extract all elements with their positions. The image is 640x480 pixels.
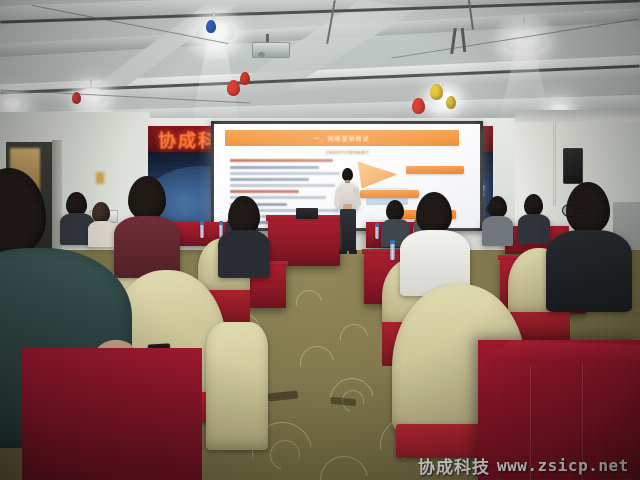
red-balloon: [412, 98, 425, 114]
slide-callout-1: [406, 166, 465, 174]
bottle-cap: [200, 221, 204, 225]
bottle-cap: [219, 221, 223, 225]
foreground-table-left: [22, 348, 202, 480]
banner-left-text: 协成科: [158, 127, 218, 153]
watermark-url: www.zsicp.net: [497, 456, 629, 475]
presenter-trousers: [340, 209, 356, 251]
yellow-balloon: [446, 96, 456, 109]
conference-room-photo: 协成科 与突益 下首创发布会 of potential conference 一…: [0, 0, 640, 480]
eyeglasses: [486, 205, 495, 213]
water-bottle: [375, 226, 379, 239]
red-balloon: [227, 80, 240, 96]
presenter: [335, 168, 361, 260]
slide-subtitle: 互联网时代的营销新模式: [273, 150, 422, 156]
blue-balloon: [206, 20, 216, 33]
stage-table: [268, 218, 340, 266]
watermark-chinese: 协成科技: [418, 453, 490, 478]
bottle-cap: [390, 240, 395, 244]
laptop: [296, 208, 318, 219]
water-bottle: [390, 244, 395, 260]
yellow-balloon: [430, 84, 443, 100]
red-balloon: [72, 92, 81, 104]
slide-header-bar: 一、网络营销概述: [225, 130, 459, 146]
banquet-chair: [206, 322, 268, 450]
red-balloon: [240, 72, 250, 85]
eyeglasses-bridge: [575, 208, 581, 209]
watermark: 协成科技 www.zsicp.net: [418, 452, 638, 478]
speaker-pole: [553, 114, 556, 206]
slide-arrow-graphic: [358, 161, 398, 188]
bottle-cap: [375, 223, 379, 227]
slide-header-text: 一、网络营销概述: [225, 130, 459, 146]
eyeglasses: [562, 204, 577, 217]
water-bottle: [200, 224, 204, 238]
slide-callout-2: [360, 190, 419, 198]
wall-mounted-speaker: [563, 148, 583, 184]
